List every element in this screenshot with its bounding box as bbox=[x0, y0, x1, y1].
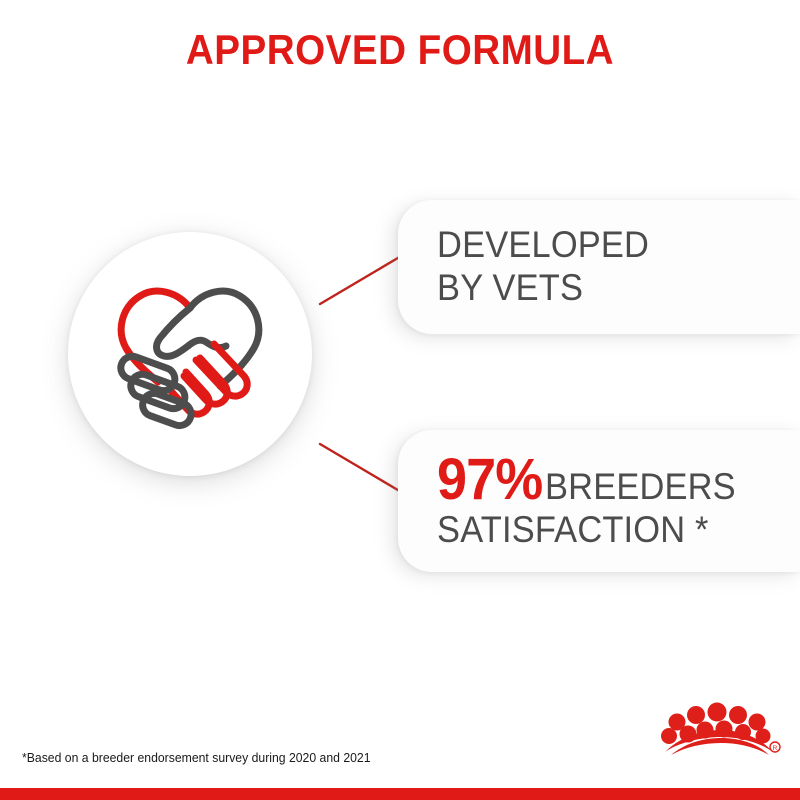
svg-text:R: R bbox=[773, 745, 778, 752]
royal-canin-crown-logo: R bbox=[655, 700, 785, 756]
promo-banner: APPROVED FORMULA bbox=[0, 0, 800, 800]
stat-suffix-label: BREEDERS bbox=[542, 468, 736, 505]
stat-second-line: SATISFACTION * bbox=[437, 501, 709, 550]
callout-text-developed-by-vets: DEVELOPED BY VETS bbox=[398, 224, 772, 310]
icon-circle bbox=[68, 232, 312, 476]
callout-text-breeders-satisfaction: 97% BREEDERS SATISFACTION * bbox=[398, 451, 772, 552]
handshake-heart-icon bbox=[94, 272, 286, 440]
callout-card-developed-by-vets: DEVELOPED BY VETS bbox=[398, 200, 800, 334]
callout-line-1: DEVELOPED bbox=[437, 224, 772, 267]
page-title: APPROVED FORMULA bbox=[32, 26, 768, 74]
footnote-text: *Based on a breeder endorsement survey d… bbox=[22, 750, 371, 765]
registered-trademark-icon: R bbox=[770, 742, 780, 752]
callout-line-2: BY VETS bbox=[437, 267, 772, 310]
bottom-red-bar bbox=[0, 788, 800, 800]
callout-card-breeders-satisfaction: 97% BREEDERS SATISFACTION * bbox=[398, 430, 800, 572]
